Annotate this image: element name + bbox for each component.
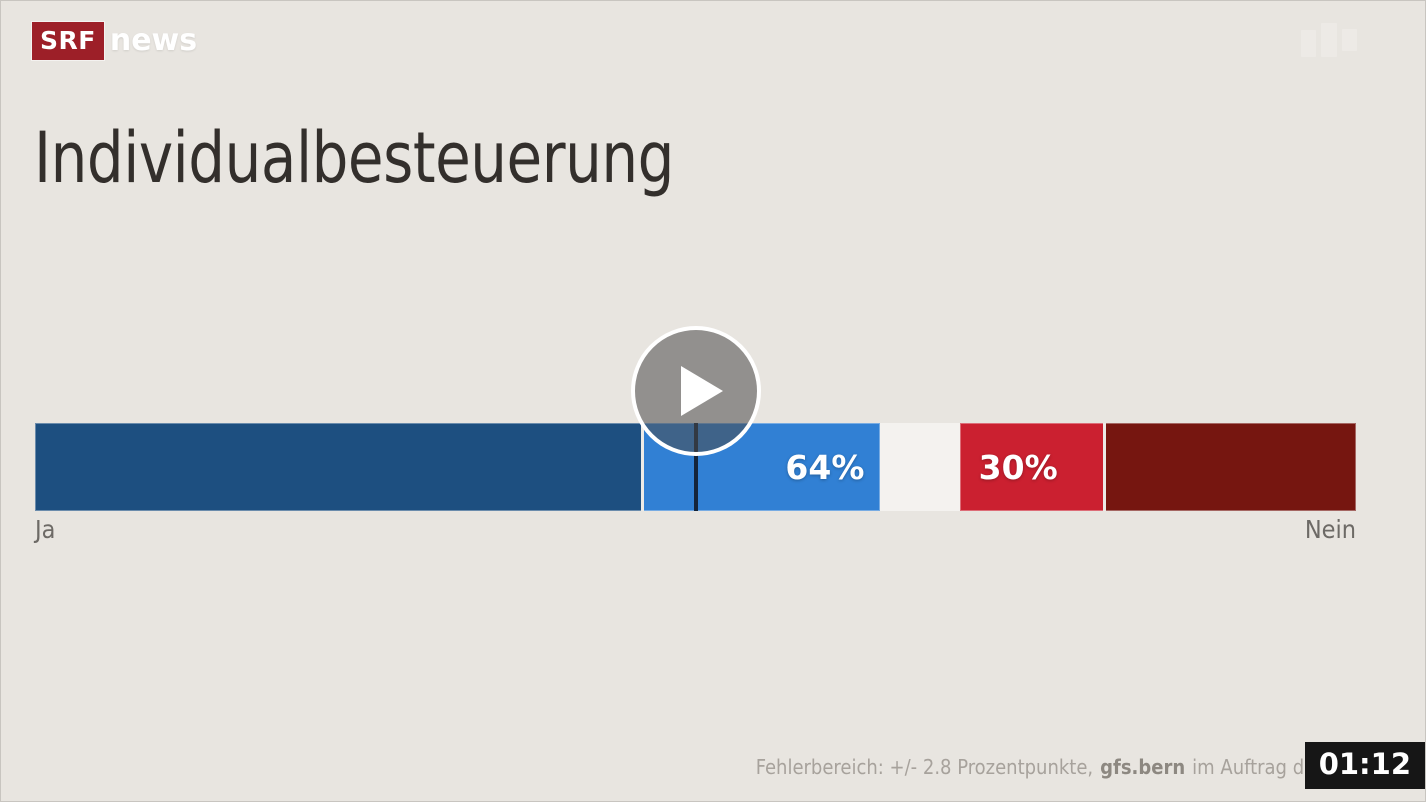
axis-label-ja: Ja bbox=[35, 515, 55, 544]
bar-segment-nein-bestimmt bbox=[1105, 423, 1356, 511]
watermark-bar-3 bbox=[1342, 29, 1357, 50]
watermark-bar-1 bbox=[1301, 30, 1316, 57]
srf-logo-mark: SRF bbox=[32, 22, 104, 60]
bar-segment-label-ja-total: 64% bbox=[785, 448, 880, 487]
bar-segment-label-nein-total: 30% bbox=[960, 448, 1058, 487]
page-title: Individualbesteuerung bbox=[34, 123, 674, 193]
srf-news-wordmark: news bbox=[110, 26, 197, 56]
bar-segment-ja-bestimmt bbox=[35, 423, 643, 511]
footnote-institute: gfs.bern bbox=[1100, 755, 1185, 779]
video-duration-badge: 01:12 bbox=[1305, 742, 1425, 789]
play-triangle-icon bbox=[681, 366, 723, 416]
channel-watermark-icon bbox=[1301, 23, 1357, 57]
footnote-commissioned-by: im Auftrag der bbox=[1192, 755, 1322, 779]
video-player-frame: SRF news Individualbesteuerung 64% 30% bbox=[0, 0, 1426, 802]
axis-label-nein: Nein bbox=[1305, 515, 1356, 544]
axis-labels: Ja Nein bbox=[35, 515, 1356, 544]
watermark-bar-2 bbox=[1321, 23, 1336, 57]
bar-segment-nein-eher: 30% bbox=[960, 423, 1105, 511]
bar-segment-weiss-nicht bbox=[880, 423, 959, 511]
footnote-margin-of-error: Fehlerbereich: +/- 2.8 Prozentpunkte, bbox=[756, 755, 1093, 779]
play-button[interactable] bbox=[631, 326, 761, 456]
srf-news-logo: SRF news bbox=[32, 23, 197, 59]
